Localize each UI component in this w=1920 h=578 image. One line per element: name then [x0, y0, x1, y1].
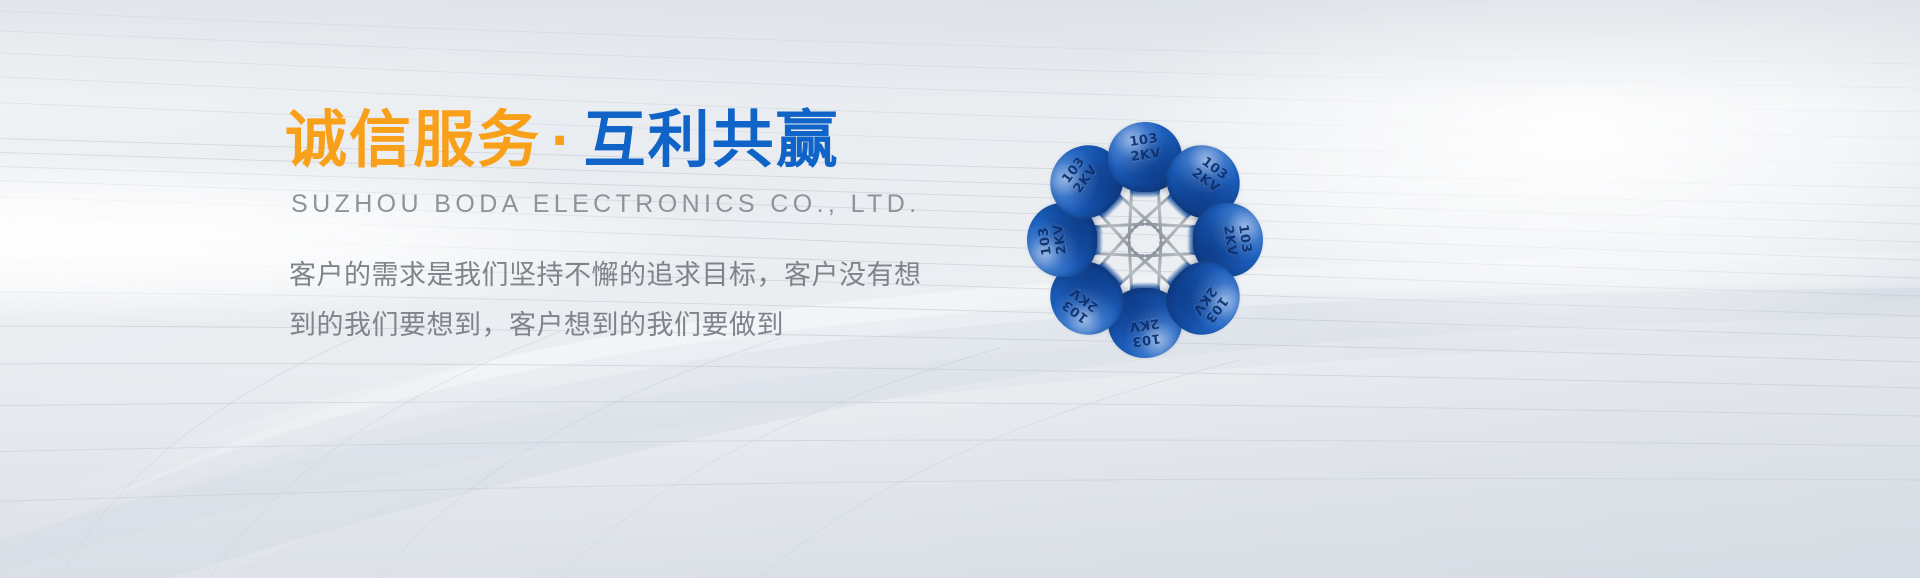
company-name-english: SUZHOU BODA ELECTRONICS CO., LTD. — [291, 190, 985, 219]
slogan-line-1: 客户的需求是我们坚持不懈的追求目标，客户没有想 — [289, 251, 929, 301]
capacitor-lead — [1133, 250, 1171, 284]
hero-banner: 诚信服务·互利共赢 SUZHOU BODA ELECTRONICS CO., L… — [0, 0, 1920, 578]
capacitor-ring: 103 2KV103 2KV103 2KV103 2KV103 2KV103 2… — [930, 40, 1360, 440]
headline-accent: 诚信服务 — [285, 106, 541, 175]
capacitor-lead — [1155, 228, 1189, 266]
headline-primary: 互利共赢 — [584, 106, 840, 175]
headline-separator: · — [541, 106, 584, 175]
headline: 诚信服务·互利共赢 — [285, 108, 985, 174]
slogan-paragraph: 客户的需求是我们坚持不懈的追求目标，客户没有想 到的我们要想到，客户想到的我们要… — [289, 251, 929, 351]
banner-copy: 诚信服务·互利共赢 SUZHOU BODA ELECTRONICS CO., L… — [285, 108, 985, 351]
slogan-line-2: 到的我们要想到，客户想到的我们要做到 — [289, 301, 929, 351]
